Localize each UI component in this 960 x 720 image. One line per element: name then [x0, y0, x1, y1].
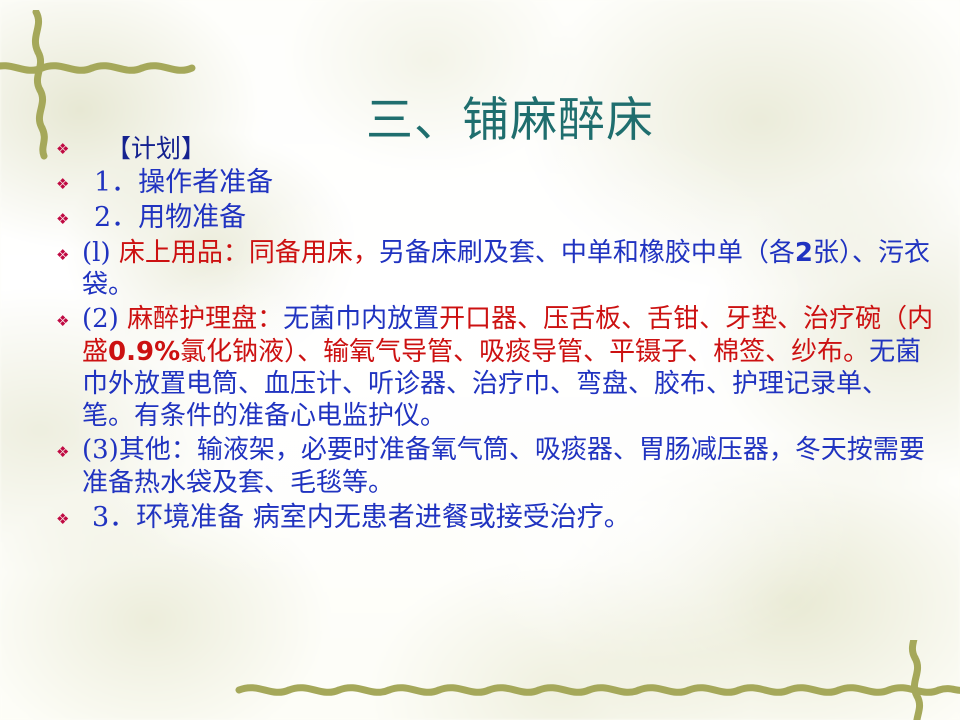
list-item-label: 2．用物准备: [82, 201, 936, 234]
list-item-label: 3．环境准备 病室内无患者进餐或接受治疗。: [82, 501, 936, 534]
content-bullet-list: ❖ 【计划】 ❖ 1．操作者准备 ❖ 2．用物准备 ❖ (l) 床上用品：同备用…: [56, 133, 936, 536]
diamond-bullet-icon: ❖: [56, 237, 82, 266]
diamond-bullet-icon: ❖: [56, 501, 82, 530]
text-run-4: 0.9%: [108, 337, 180, 367]
list-item-rich-text: (l) 床上用品：同备用床，另备床刷及套、中单和橡胶中单（各2张）、污衣袋。: [82, 237, 936, 301]
diamond-bullet-icon: ❖: [56, 303, 82, 332]
list-item[interactable]: ❖ 1．操作者准备: [56, 166, 936, 199]
list-item[interactable]: ❖ (l) 床上用品：同备用床，另备床刷及套、中单和橡胶中单（各2张）、污衣袋。: [56, 237, 936, 301]
text-run-2: 另备床刷及套、中单和橡胶中单（各: [379, 238, 795, 268]
slide-canvas: 三、铺麻醉床 ❖ 【计划】 ❖ 1．操作者准备 ❖ 2．用物准备 ❖ (l) 床…: [0, 0, 960, 720]
diamond-bullet-icon: ❖: [56, 133, 82, 160]
text-run-2: 无菌巾内放置: [283, 304, 439, 334]
list-item[interactable]: ❖ (2) 麻醉护理盘：无菌巾内放置开口器、压舌板、舌钳、牙垫、治疗碗（内盛0.…: [56, 303, 936, 432]
text-run-0: (3)其他：输液架，必要时准备氧气筒、吸痰器、胃肠减压器，冬天按需要准备热水袋及…: [82, 435, 925, 497]
text-run-0: (l): [82, 238, 119, 268]
text-run-3: 2: [795, 238, 813, 268]
list-item[interactable]: ❖ 【计划】: [56, 133, 936, 164]
diamond-bullet-icon: ❖: [56, 434, 82, 463]
diamond-bullet-icon: ❖: [56, 166, 82, 195]
list-item[interactable]: ❖ 2．用物准备: [56, 201, 936, 234]
text-run-1: 床上用品：同备用床，: [119, 238, 379, 268]
text-run-0: (2): [82, 304, 127, 334]
text-run-5: 氯化钠液）、输氧气导管、吸痰导管、平镊子、棉签、纱布。: [180, 337, 869, 367]
bamboo-ornament-bottom-right: [235, 640, 960, 720]
diamond-bullet-icon: ❖: [56, 201, 82, 230]
list-item-rich-text: (2) 麻醉护理盘：无菌巾内放置开口器、压舌板、舌钳、牙垫、治疗碗（内盛0.9%…: [82, 303, 936, 432]
list-item[interactable]: ❖ 3．环境准备 病室内无患者进餐或接受治疗。: [56, 501, 936, 534]
list-item-rich-text: (3)其他：输液架，必要时准备氧气筒、吸痰器、胃肠减压器，冬天按需要准备热水袋及…: [82, 434, 936, 498]
list-item-label: 【计划】: [82, 133, 936, 164]
list-item-label: 1．操作者准备: [82, 166, 936, 199]
list-item[interactable]: ❖ (3)其他：输液架，必要时准备氧气筒、吸痰器、胃肠减压器，冬天按需要准备热水…: [56, 434, 936, 498]
text-run-1: 麻醉护理盘：: [127, 304, 283, 334]
